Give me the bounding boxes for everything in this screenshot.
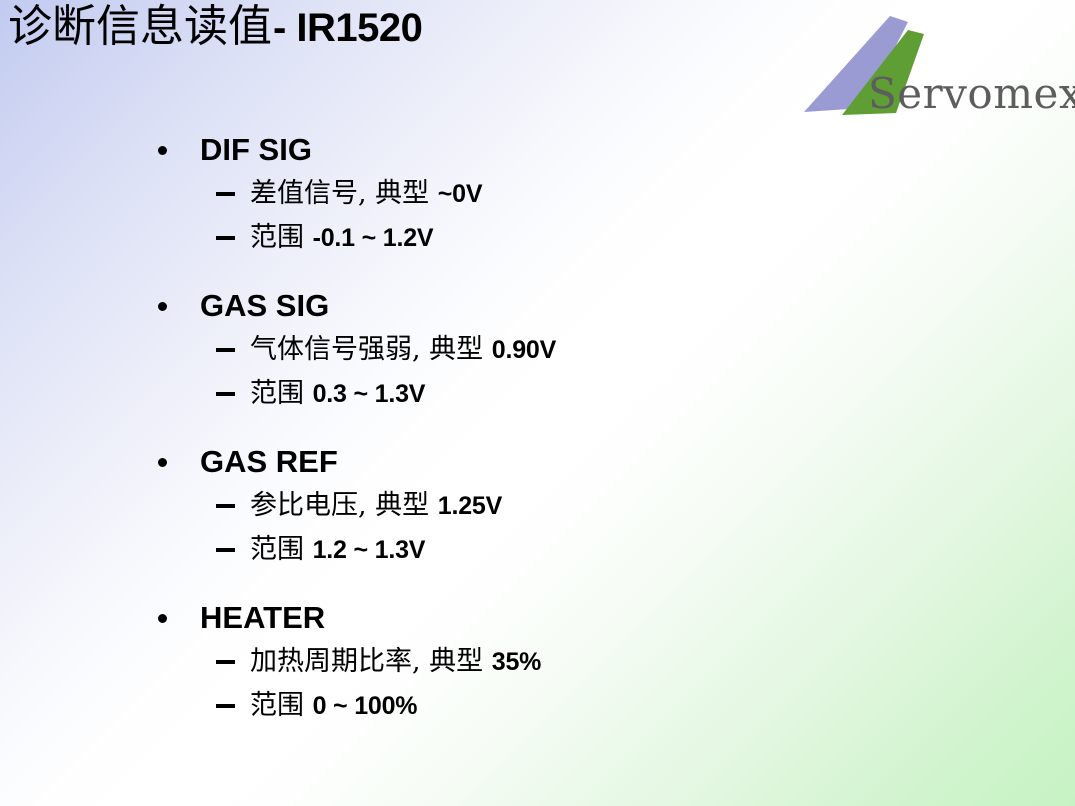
list-item-value: 0.90V (492, 336, 556, 364)
list-item: 参比电压, 典型 1.25V (0, 484, 1075, 528)
group-heading-row: HEATER (0, 596, 1075, 640)
list-item-text: 范围 (250, 378, 313, 409)
page-title-model: - IR1520 (273, 6, 422, 50)
dash-marker-icon (216, 704, 235, 708)
dash-marker-icon (216, 192, 235, 196)
group-heading-label: HEATER (200, 600, 325, 635)
page-title-cjk: 诊断信息读值 (8, 1, 272, 52)
page-title: 诊断信息读值- IR1520 (8, 2, 422, 53)
list-item-value: 1.2 ~ 1.3V (313, 536, 426, 564)
list-item-value: ~0V (438, 180, 483, 208)
list-item: 范围 0.3 ~ 1.3V (0, 372, 1075, 416)
bullet-dot-icon (158, 614, 167, 623)
list-item: 范围 1.2 ~ 1.3V (0, 528, 1075, 572)
servomex-logo: Servomex (790, 12, 1070, 124)
dash-marker-icon (216, 660, 235, 664)
logo-wordmark: Servomex (868, 69, 1075, 118)
list-group: GAS SIG 气体信号强弱, 典型 0.90V 范围 0.3 ~ 1.3V (0, 284, 1075, 416)
list-item: 加热周期比率, 典型 35% (0, 640, 1075, 684)
list-group: DIF SIG 差值信号, 典型 ~0V 范围 -0.1 ~ 1.2V (0, 128, 1075, 260)
list-group: HEATER 加热周期比率, 典型 35% 范围 0 ~ 100% (0, 596, 1075, 728)
dash-marker-icon (216, 236, 235, 240)
group-heading-label: GAS REF (200, 444, 338, 479)
list-item-value: -0.1 ~ 1.2V (313, 224, 434, 252)
list-item-text: 差值信号, 典型 (250, 178, 438, 209)
list-item-text: 范围 (250, 690, 313, 721)
bullet-dot-icon (158, 146, 167, 155)
list-group: GAS REF 参比电压, 典型 1.25V 范围 1.2 ~ 1.3V (0, 440, 1075, 572)
bullet-dot-icon (158, 458, 167, 467)
list-item-text: 加热周期比率, 典型 (250, 646, 492, 677)
group-heading-row: GAS REF (0, 440, 1075, 484)
group-heading-label: DIF SIG (200, 132, 312, 167)
bullet-list: DIF SIG 差值信号, 典型 ~0V 范围 -0.1 ~ 1.2V GAS … (0, 128, 1075, 728)
dash-marker-icon (216, 348, 235, 352)
dash-marker-icon (216, 392, 235, 396)
list-item: 气体信号强弱, 典型 0.90V (0, 328, 1075, 372)
group-heading-label: GAS SIG (200, 288, 329, 323)
group-heading-row: DIF SIG (0, 128, 1075, 172)
list-item-text: 范围 (250, 534, 313, 565)
dash-marker-icon (216, 504, 235, 508)
list-item-value: 1.25V (438, 492, 502, 520)
dash-marker-icon (216, 548, 235, 552)
list-item-text: 范围 (250, 222, 313, 253)
group-heading-row: GAS SIG (0, 284, 1075, 328)
list-item-value: 35% (492, 648, 541, 676)
slide-canvas: 诊断信息读值- IR1520 Servomex DIF SIG 差值信号, 典型… (0, 0, 1075, 806)
bullet-dot-icon (158, 302, 167, 311)
list-item-value: 0.3 ~ 1.3V (313, 380, 426, 408)
list-item: 范围 -0.1 ~ 1.2V (0, 216, 1075, 260)
list-item: 范围 0 ~ 100% (0, 684, 1075, 728)
list-item: 差值信号, 典型 ~0V (0, 172, 1075, 216)
list-item-text: 参比电压, 典型 (250, 490, 438, 521)
list-item-value: 0 ~ 100% (313, 692, 418, 720)
list-item-text: 气体信号强弱, 典型 (250, 334, 492, 365)
